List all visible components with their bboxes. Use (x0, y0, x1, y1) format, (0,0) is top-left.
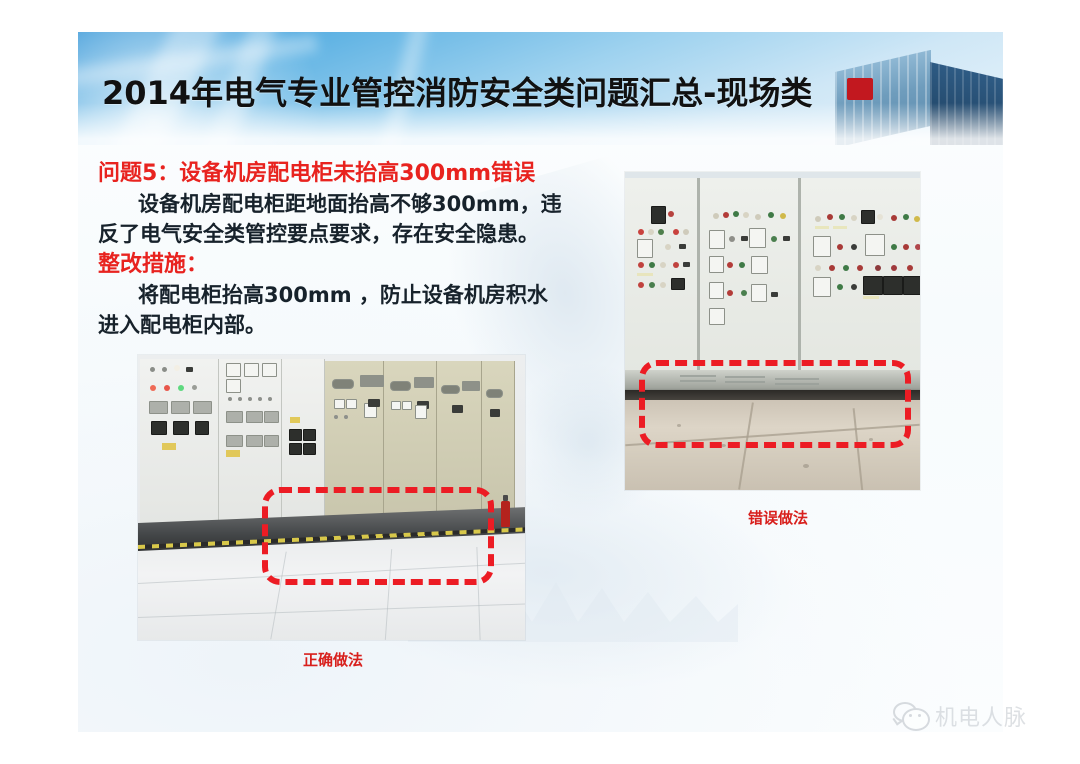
indicator-lamp (238, 397, 242, 401)
indicator-lamp (741, 290, 747, 296)
panel-meter (264, 411, 279, 423)
slide-page: 2014年电气专业管控消防安全类问题汇总-现场类 问题5：设备机房配电柜未抬高3… (0, 0, 1080, 764)
cabinet-nameplate (360, 375, 384, 387)
indicator-lamp (914, 216, 920, 222)
panel-meter (226, 379, 241, 393)
switchgear-panel (700, 178, 800, 374)
indicator-lamp (660, 282, 666, 288)
panel-meter (709, 308, 725, 325)
indicator-lamp (178, 385, 184, 391)
slide-header-banner: 2014年电气专业管控消防安全类问题汇总-现场类 (78, 32, 1003, 145)
cabinet-badge (390, 381, 411, 391)
ground-debris (803, 464, 809, 468)
panel-meter (671, 278, 685, 290)
indicator-lamp (733, 211, 739, 217)
indicator-lamp (829, 265, 835, 271)
indicator-lamp (743, 212, 749, 218)
indicator-lamp (673, 262, 679, 268)
panel-meter (303, 429, 316, 441)
cabinet-badge (486, 389, 503, 398)
indicator-lamp (727, 290, 733, 296)
panel-label (637, 273, 653, 276)
indicator-lamp (903, 244, 909, 250)
panel-meter (751, 284, 767, 302)
cabinet-badge (332, 379, 354, 389)
panel-switch (683, 262, 690, 267)
panel-meter (861, 210, 875, 224)
indicator-lamp (903, 214, 909, 220)
indicator-lamp (723, 212, 729, 218)
indicator-lamp (164, 385, 170, 391)
panel-meter (173, 421, 189, 435)
photo-correct-practice (138, 355, 525, 640)
panel-meter (749, 228, 766, 248)
panel-meter (226, 435, 243, 447)
cabinet-nameplate (462, 381, 480, 391)
wechat-eye (918, 714, 921, 717)
panel-meter (813, 236, 831, 257)
wechat-eye (909, 714, 912, 717)
indicator-lamp (248, 397, 252, 401)
panel-meter (151, 421, 167, 435)
panel-meter (226, 411, 243, 423)
panel-meter (651, 206, 666, 224)
indicator-lamp (150, 385, 156, 391)
cabinet-handle (415, 405, 427, 419)
panel-switch (186, 367, 193, 372)
indicator-lamp (258, 397, 262, 401)
indicator-lamp (843, 265, 849, 271)
page-title: 2014年电气专业管控消防安全类问题汇总-现场类 (102, 68, 942, 114)
cabinet-handle (490, 409, 500, 417)
panel-meter (264, 435, 279, 447)
indicator-lamp (192, 385, 197, 390)
panel-meter (863, 276, 883, 295)
panel-meter (346, 399, 357, 409)
panel-label (162, 443, 176, 450)
measure-heading: 整改措施： (98, 249, 618, 280)
panel-meter (195, 421, 209, 435)
panel-meter (303, 443, 316, 455)
indicator-lamp (739, 262, 745, 268)
panel-meter (289, 429, 302, 441)
indicator-lamp (334, 415, 338, 419)
indicator-lamp (877, 214, 883, 220)
panel-meter (402, 401, 412, 410)
panel-meter (246, 411, 263, 423)
indicator-lamp (891, 215, 897, 221)
panel-meter (709, 256, 724, 273)
indicator-lamp (649, 282, 655, 288)
panel-seam (697, 178, 700, 374)
slide-canvas: 2014年电气专业管控消防安全类问题汇总-现场类 问题5：设备机房配电柜未抬高3… (78, 32, 1003, 732)
fire-extinguisher-icon (501, 501, 510, 527)
panel-meter (244, 363, 259, 377)
panel-meter (289, 443, 302, 455)
indicator-lamp (891, 244, 897, 250)
indicator-lamp (857, 265, 863, 271)
indicator-lamp (839, 214, 845, 220)
problem-text-line-1: 设备机房配电柜距地面抬高不够300mm，违 (98, 189, 618, 219)
cabinet-badge (441, 385, 460, 394)
indicator-lamp (648, 229, 654, 235)
cabinet-handle (452, 405, 463, 413)
indicator-lamp (344, 415, 348, 419)
measure-text-line-1: 将配电柜抬高300mm ，防止设备机房积水 (98, 280, 618, 310)
indicator-lamp (683, 229, 689, 235)
indicator-lamp (150, 367, 155, 372)
fire-extinguisher-icon (503, 495, 508, 501)
indicator-lamp (713, 213, 719, 219)
callout-box-no-raised-base (639, 360, 911, 448)
indicator-lamp (268, 397, 272, 401)
panel-label (833, 226, 847, 229)
indicator-lamp (727, 262, 733, 268)
panel-switch (679, 244, 686, 249)
panel-meter (751, 256, 768, 274)
panel-meter (226, 363, 241, 377)
indicator-lamp (851, 284, 857, 290)
indicator-lamp (638, 262, 644, 268)
photo-caption-incorrect: 错误做法 (683, 507, 873, 528)
problem-heading: 问题5：设备机房配电柜未抬高300mm错误 (98, 158, 618, 189)
panel-meter (903, 276, 920, 295)
wechat-account-name: 机电人脉 (935, 700, 1027, 732)
indicator-lamp (638, 282, 644, 288)
indicator-lamp (780, 213, 786, 219)
panel-switch (783, 236, 790, 241)
indicator-lamp (768, 212, 774, 218)
indicator-lamp (729, 236, 735, 242)
indicator-lamp (915, 244, 920, 250)
indicator-lamp (851, 244, 857, 250)
indicator-lamp (875, 265, 881, 271)
measure-text-line-2: 进入配电柜内部。 (98, 310, 618, 340)
photo-incorrect-practice (625, 172, 920, 490)
indicator-lamp (649, 262, 655, 268)
indicator-lamp (891, 265, 897, 271)
panel-meter (637, 239, 653, 258)
indicator-lamp (668, 211, 674, 217)
panel-meter (865, 234, 885, 256)
panel-label (290, 417, 300, 423)
panel-meter (883, 276, 903, 295)
indicator-lamp (228, 397, 232, 401)
indicator-lamp (851, 215, 857, 221)
panel-meter (391, 401, 401, 410)
cabinet-handle (368, 399, 380, 407)
indicator-lamp (665, 244, 671, 250)
indicator-lamp (907, 265, 913, 271)
indicator-lamp (174, 365, 180, 371)
panel-meter (171, 401, 190, 414)
indicator-lamp (162, 367, 167, 372)
panel-meter (334, 399, 345, 409)
panel-meter (246, 435, 263, 447)
indicator-lamp (771, 236, 777, 242)
panel-seam (798, 178, 801, 374)
panel-meter (149, 401, 168, 414)
content-text-block: 问题5：设备机房配电柜未抬高300mm错误 设备机房配电柜距地面抬高不够300m… (98, 158, 618, 340)
indicator-lamp (755, 214, 761, 220)
panel-meter (709, 230, 725, 249)
indicator-lamp (827, 214, 833, 220)
indicator-lamp (837, 284, 843, 290)
indicator-lamp (815, 265, 821, 271)
wechat-watermark: 机电人脉 (893, 700, 1027, 732)
panel-meter (262, 363, 277, 377)
panel-switch (771, 292, 778, 297)
indicator-lamp (673, 229, 679, 235)
problem-text-line-2: 反了电气安全类管控要点要求，存在安全隐患。 (98, 219, 618, 249)
panel-label (815, 226, 829, 229)
wechat-icon (893, 702, 927, 730)
panel-switch (741, 236, 748, 241)
indicator-lamp (658, 229, 664, 235)
panel-meter (709, 282, 724, 299)
indicator-lamp (837, 244, 843, 250)
indicator-lamp (638, 229, 644, 235)
panel-label (863, 296, 879, 299)
indicator-lamp (815, 216, 821, 222)
panel-meter (193, 401, 212, 414)
wechat-bubble-large (902, 708, 930, 731)
panel-label (226, 450, 240, 457)
cabinet-nameplate (414, 377, 434, 388)
indicator-lamp (660, 262, 666, 268)
panel-meter (813, 277, 831, 297)
callout-box-raised-base (262, 487, 494, 585)
photo-caption-correct: 正确做法 (238, 649, 428, 670)
